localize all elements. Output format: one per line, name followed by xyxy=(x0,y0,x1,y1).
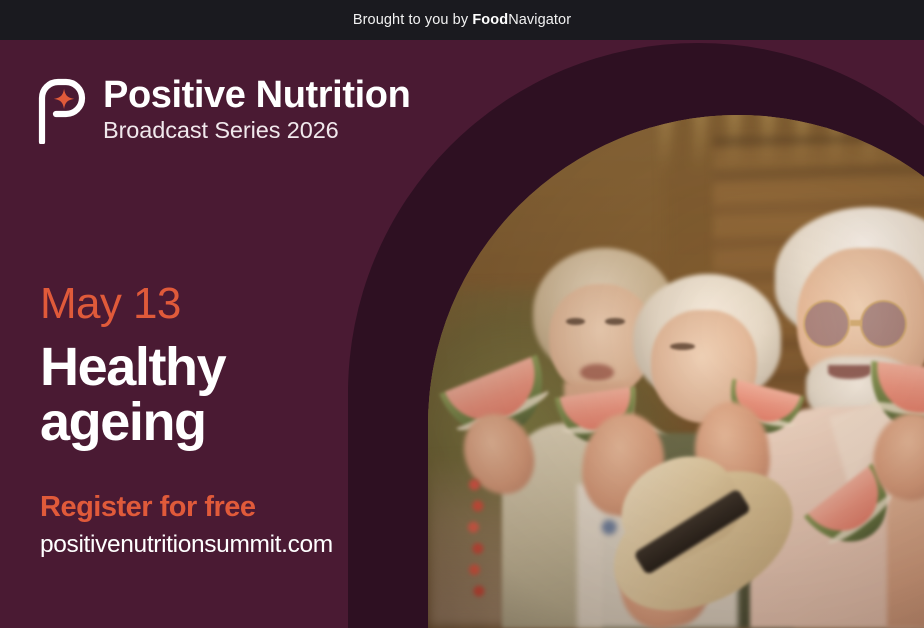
sponsor-bar: Brought to you by FoodNavigator xyxy=(0,0,924,40)
event-promo-banner: Brought to you by FoodNavigator xyxy=(0,0,924,628)
text-column: Positive Nutrition Broadcast Series 2026… xyxy=(0,40,360,628)
registration-url[interactable]: positivenutritionsummit.com xyxy=(40,529,333,561)
brand-food: Food xyxy=(472,12,508,28)
logo-title: Positive Nutrition xyxy=(103,75,410,115)
brand-navigator: Navigator xyxy=(508,12,571,28)
cta-block[interactable]: Register for free positivenutritionsummi… xyxy=(40,488,333,561)
banner-stage: Positive Nutrition Broadcast Series 2026… xyxy=(0,40,924,628)
brand-logo-lockup: Positive Nutrition Broadcast Series 2026 xyxy=(36,74,410,144)
logo-text-block: Positive Nutrition Broadcast Series 2026 xyxy=(103,74,410,144)
hero-photo-arch xyxy=(428,115,924,628)
event-title: Healthy ageing xyxy=(40,340,225,450)
headline-block: May 13 Healthy ageing xyxy=(40,278,225,450)
photo-vignette xyxy=(428,115,924,628)
logo-subtitle: Broadcast Series 2026 xyxy=(103,116,410,144)
event-title-line-2: ageing xyxy=(40,395,225,450)
event-title-line-1: Healthy xyxy=(40,340,225,395)
hero-photo xyxy=(428,115,924,628)
sponsor-prefix: Brought to you by xyxy=(353,12,473,28)
event-date: May 13 xyxy=(40,278,225,330)
register-cta-heading[interactable]: Register for free xyxy=(40,488,333,526)
positive-nutrition-p-star-logo xyxy=(36,78,92,144)
sponsor-text: Brought to you by FoodNavigator xyxy=(353,12,571,28)
